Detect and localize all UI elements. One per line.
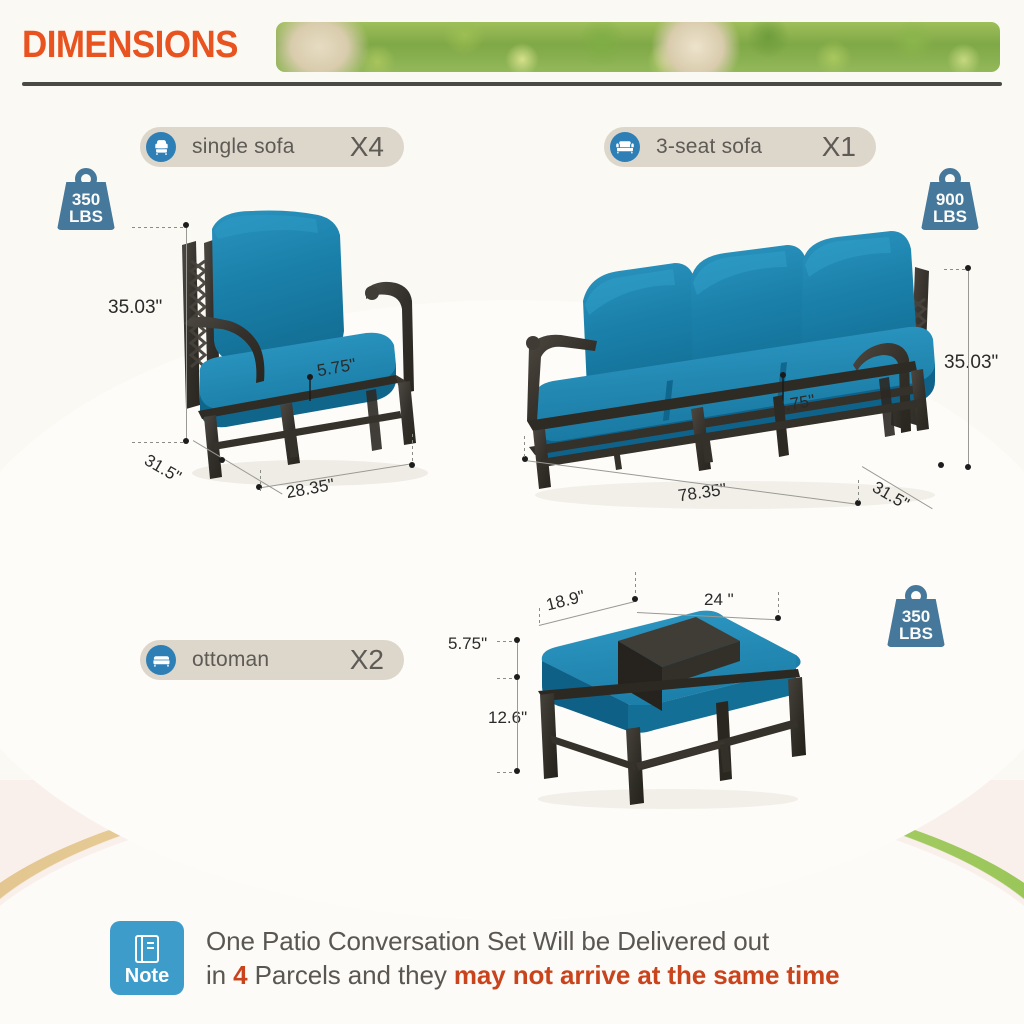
sofa-height-dot-bottom	[965, 464, 971, 470]
ottoman-icon	[146, 645, 176, 675]
sofa-height-dot-top	[965, 265, 971, 271]
chair-width-ext2	[260, 470, 261, 492]
book-icon	[134, 934, 160, 964]
ottoman-cushion-ext-top	[497, 641, 515, 642]
3-seat-sofa-image	[505, 215, 955, 515]
ottoman-depth-dot	[632, 596, 638, 602]
weight-badge-single-sofa: 350 LBS	[57, 168, 115, 230]
sofa-height-line	[968, 268, 969, 468]
note-line-1: One Patio Conversation Set Will be Deliv…	[206, 926, 769, 956]
chair-height-dot-bottom	[183, 438, 189, 444]
note-line-2-mid: Parcels and they	[248, 960, 454, 990]
note-bar: Note One Patio Conversation Set Will be …	[110, 915, 920, 1001]
ottoman-cushion-ext-bottom	[497, 678, 515, 679]
ottoman-depth-ext2	[635, 572, 636, 596]
ottoman-cushion-label: 5.75"	[448, 634, 487, 654]
ottoman-leg-height-line	[517, 680, 518, 772]
chair-height-ext-top	[132, 227, 184, 228]
weight-unit: LBS	[899, 626, 933, 642]
chair-depth-dot	[219, 457, 225, 463]
ottoman-width-label: 24 "	[704, 590, 734, 610]
chair-width-ext	[412, 434, 413, 462]
label-pill-single-sofa: single sofa X4	[140, 127, 404, 167]
armchair-icon	[146, 132, 176, 162]
page-title: DIMENSIONS	[22, 24, 238, 67]
sofa-width-dot-left	[522, 456, 528, 462]
note-line-2-prefix: in	[206, 960, 233, 990]
foliage-banner-image	[276, 22, 1000, 72]
sofa-depth-dot	[938, 462, 944, 468]
ottoman-width-ext	[778, 592, 779, 616]
chair-width-dot	[409, 462, 415, 468]
ottoman-depth-ext	[539, 608, 540, 626]
note-badge: Note	[110, 921, 184, 995]
weight-unit: LBS	[69, 209, 103, 225]
chair-height-label: 35.03"	[108, 297, 162, 319]
sofa-icon	[610, 132, 640, 162]
sofa-height-ext-top	[944, 269, 968, 270]
weight-unit: LBS	[933, 209, 967, 225]
header-divider	[22, 82, 1002, 86]
pill-label: 3-seat sofa	[656, 135, 762, 159]
header: DIMENSIONS	[0, 0, 1024, 92]
pill-quantity: X4	[324, 131, 384, 163]
pill-label: ottoman	[192, 648, 269, 672]
weight-badge-ottoman: 350 LBS	[887, 585, 945, 647]
ottoman-leg-height-label: 12.6"	[488, 708, 527, 728]
note-badge-label: Note	[125, 966, 169, 986]
ottoman-leg-ext-bottom	[497, 772, 515, 773]
sofa-width-ext-left	[524, 436, 525, 458]
pill-quantity: X1	[796, 131, 856, 163]
note-text: One Patio Conversation Set Will be Deliv…	[206, 924, 840, 993]
pill-label: single sofa	[192, 135, 295, 159]
sofa-width-ext-right	[858, 480, 859, 502]
ottoman-leg-dot-bottom	[514, 768, 520, 774]
ottoman-cushion-line	[517, 640, 518, 678]
chair-height-line	[186, 226, 187, 441]
infographic-page: DIMENSIONS single sofa X4 3-seat sofa X1	[0, 0, 1024, 1024]
note-highlight: may not arrive at the same time	[454, 960, 840, 990]
ottoman-cushion-dot-top	[514, 637, 520, 643]
chair-height-ext-bottom	[132, 442, 184, 443]
sofa-height-label: 35.03"	[944, 352, 998, 374]
ottoman-image	[500, 595, 830, 810]
note-parcel-count: 4	[233, 960, 247, 990]
label-pill-ottoman: ottoman X2	[140, 640, 404, 680]
pill-quantity: X2	[324, 644, 384, 676]
label-pill-3-seat-sofa: 3-seat sofa X1	[604, 127, 876, 167]
